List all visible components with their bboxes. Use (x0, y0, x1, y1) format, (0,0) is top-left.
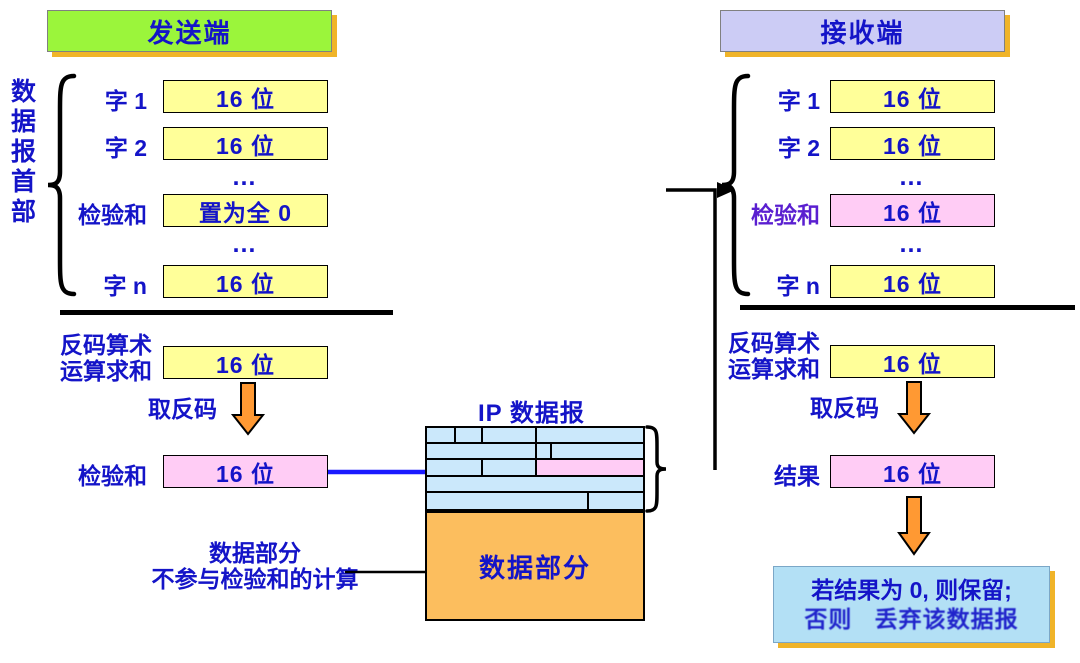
ip-row1-divider-2 (481, 428, 483, 442)
sender-invert-label: 取反码 (148, 396, 217, 422)
ip-row3-divider-2 (535, 460, 537, 474)
ip-datagram-title: IP 数据报 (478, 393, 585, 428)
sender-bracket-label-text: 数据报首部 (8, 78, 35, 228)
sender-sum-value: 16 位 (163, 346, 328, 379)
sender-row-label-5: 字 n (72, 267, 147, 301)
receiver-ellipsis-0: … (830, 163, 995, 192)
ip-datagram-header (425, 426, 645, 511)
sender-sum-label: 反码算术 运算求和 (12, 332, 152, 385)
conclusion-line-1: 若结果为 0, 则保留; (811, 576, 1012, 605)
receiver-row-value-0: 16 位 (830, 80, 995, 113)
ip-header-row-1 (427, 428, 643, 444)
receiver-result-label: 结果 (740, 457, 820, 491)
receiver-ellipsis-1: … (830, 230, 995, 259)
ip-row1-divider-3 (535, 428, 537, 442)
ip-row3-divider-1 (481, 460, 483, 474)
receiver-row-value-3: 16 位 (830, 194, 995, 227)
sender-ellipsis-1: … (163, 230, 328, 259)
receiver-result-arrow-icon (898, 495, 932, 557)
ip-header-row-5 (427, 493, 643, 509)
sender-ellipsis-0: … (163, 163, 328, 192)
receiver-sum-label: 反码算术 运算求和 (680, 330, 820, 383)
diagram-canvas: 发送端 接收端 数据报首部 字 1 16 位 字 2 16 位 … 检验和 置为… (0, 0, 1080, 663)
sender-checksum-label: 检验和 (42, 457, 147, 491)
sender-row-value-0: 16 位 (163, 80, 328, 113)
receiver-row-value-1: 16 位 (830, 127, 995, 160)
receiver-row-value-5: 16 位 (830, 265, 995, 298)
ip-row5-divider-1 (587, 493, 589, 509)
ip-header-row-3-checksum (427, 460, 643, 476)
receiver-result-value: 16 位 (830, 455, 995, 488)
ip-header-row-2 (427, 444, 643, 460)
sender-separator (60, 310, 393, 315)
conclusion-box: 若结果为 0, 则保留; 否则 丢弃该数据报 (773, 566, 1050, 643)
sender-header: 发送端 (47, 10, 332, 52)
receiver-header: 接收端 (720, 10, 1005, 52)
receiver-separator (740, 305, 1075, 310)
sender-row-label-3: 检验和 (42, 196, 147, 230)
sender-row-label-1: 字 2 (72, 129, 147, 163)
sender-row-value-5: 16 位 (163, 265, 328, 298)
sender-row-value-1: 16 位 (163, 127, 328, 160)
sender-invert-arrow-icon (232, 381, 266, 437)
receiver-invert-arrow-icon (898, 380, 932, 436)
sender-row-value-3: 置为全 0 (163, 194, 328, 227)
receiver-row-label-5: 字 n (745, 267, 820, 301)
conclusion-line-2: 否则 丢弃该数据报 (804, 605, 1018, 634)
ip-header-row-4 (427, 477, 643, 493)
receiver-row-label-3: 检验和 (715, 196, 820, 230)
receiver-sum-value: 16 位 (830, 345, 995, 378)
ip-row2-divider-1 (535, 444, 537, 458)
ip-checksum-field (535, 460, 643, 474)
sender-row-label-0: 字 1 (72, 82, 147, 116)
sender-checksum-value: 16 位 (163, 455, 328, 488)
ip-datagram-data-part: 数据部分 (425, 511, 645, 621)
receiver-row-label-0: 字 1 (745, 82, 820, 116)
receiver-row-label-1: 字 2 (745, 129, 820, 163)
ip-row1-divider-1 (454, 428, 456, 442)
sender-bracket-label: 数据报首部 (6, 78, 36, 234)
ip-row2-divider-2 (550, 444, 552, 458)
receiver-invert-label: 取反码 (810, 395, 879, 421)
